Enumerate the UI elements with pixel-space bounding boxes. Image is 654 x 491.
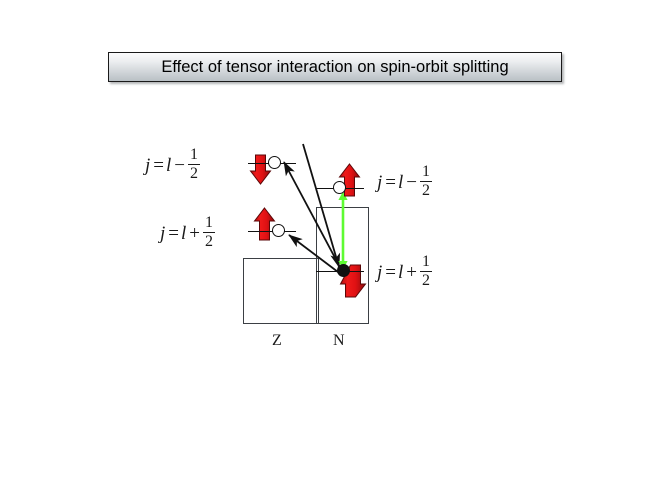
level-label-n-lower: j = l + 1 2: [377, 255, 432, 290]
fraction-numerator: 1: [188, 147, 200, 164]
label-operator: +: [404, 263, 419, 282]
level-label-z-lower: j = l + 1 2: [160, 216, 215, 251]
label-equals: =: [383, 263, 398, 282]
label-fraction: 1 2: [420, 254, 432, 289]
fraction-denominator: 2: [203, 233, 215, 250]
fraction-numerator: 1: [203, 215, 215, 232]
nucleon-circle-z-lower: [272, 224, 285, 237]
label-fraction: 1 2: [188, 147, 200, 182]
label-equals: =: [151, 156, 166, 175]
fraction-numerator: 1: [420, 164, 432, 181]
level-label-z-upper: j = l − 1 2: [145, 148, 200, 183]
spin-arrow-z-lower-up: [255, 208, 275, 240]
nucleon-circle-n-lower: [337, 264, 350, 277]
label-equals: =: [166, 224, 181, 243]
label-equals: =: [383, 173, 398, 192]
nucleon-circle-z-upper: [268, 156, 281, 169]
label-operator: +: [187, 224, 202, 243]
nucleon-circle-n-upper: [333, 181, 346, 194]
label-operator: −: [404, 173, 419, 192]
slide-canvas: Effect of tensor interaction on spin-orb…: [0, 0, 654, 491]
diagram-vector-overlay: [0, 0, 654, 491]
label-operator: −: [172, 156, 187, 175]
label-fraction: 1 2: [203, 215, 215, 250]
column-label-z: Z: [272, 332, 282, 350]
column-label-n: N: [333, 332, 345, 350]
fraction-denominator: 2: [420, 182, 432, 199]
level-label-n-upper: j = l − 1 2: [377, 165, 432, 200]
fraction-denominator: 2: [188, 165, 200, 182]
spin-orbit-splitting-arrow: [338, 192, 347, 270]
label-fraction: 1 2: [420, 164, 432, 199]
fraction-numerator: 1: [420, 254, 432, 271]
fraction-denominator: 2: [420, 272, 432, 289]
